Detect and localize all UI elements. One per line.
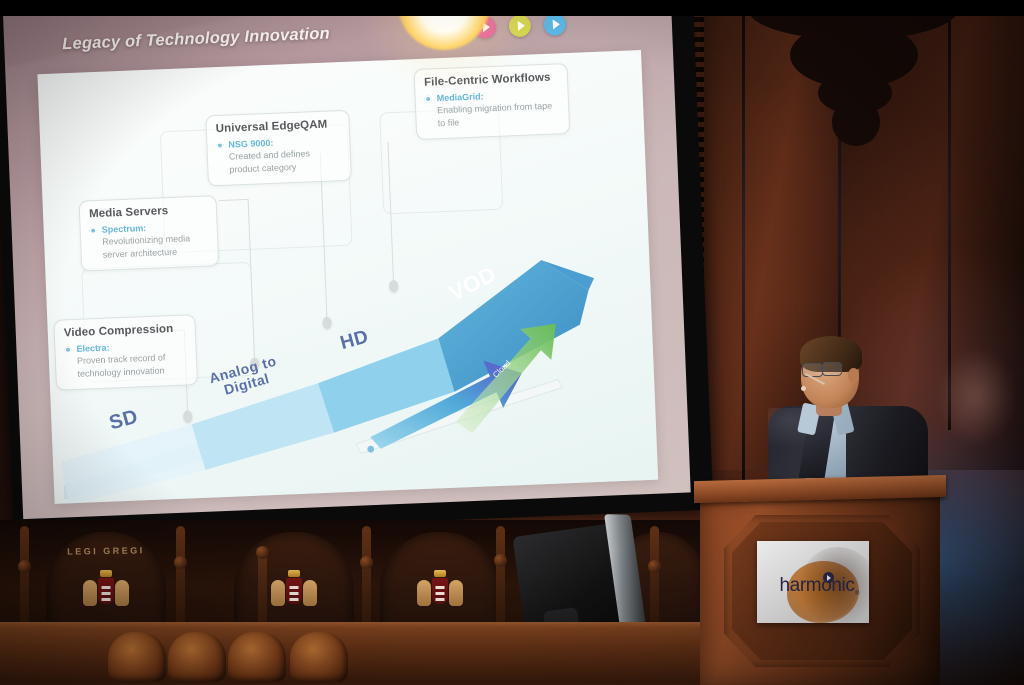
rail-carving-1	[108, 632, 166, 682]
callout-universal-edgeqam: Universal EdgeQAM NSG 9000: Created and …	[205, 110, 352, 187]
chair-knob-1	[18, 560, 31, 573]
blue-play-dot	[543, 13, 566, 36]
podium-body: harmonic ®	[700, 497, 940, 685]
callout-detail-file-centric-workflows: Enabling migration from tape to file	[437, 101, 552, 128]
coat-of-arms-icon	[83, 572, 129, 616]
callout-product-video-compression: Electra:	[76, 343, 109, 354]
callout-title-media-servers: Media Servers	[89, 204, 207, 221]
callout-detail-media-servers: Revolutionizing media server architectur…	[102, 234, 190, 260]
photo-scene: harmonic Legacy of Technology Innovation	[0, 0, 1024, 685]
callout-bullet-media-servers: Spectrum: Revolutionizing media server a…	[89, 220, 208, 262]
chair-knob-6	[648, 560, 661, 573]
coat-of-arms-icon	[271, 572, 317, 616]
presentation-slide: harmonic Legacy of Technology Innovation	[3, 0, 691, 519]
eyeglasses-bridge	[820, 367, 824, 369]
screen-surface: harmonic Legacy of Technology Innovation	[3, 0, 691, 519]
callout-video-compression: Video Compression Electra: Proven track …	[53, 314, 198, 391]
headset-microphone-tip	[801, 386, 806, 391]
bullet-dot-icon	[216, 142, 223, 149]
callout-bullet-universal-edgeqam: NSG 9000: Created and defines product ca…	[216, 134, 341, 176]
registered-mark: ®	[855, 591, 859, 597]
chair-knob-5	[494, 554, 507, 567]
chair-knob-2	[174, 556, 187, 569]
inset-arrow-graphic: Cloud	[343, 300, 599, 470]
ceiling-ornament-drop	[832, 98, 880, 146]
coat-of-arms-icon	[417, 572, 463, 616]
chair-motto: LEGI GREGI	[67, 545, 145, 556]
rail-carving-2	[168, 632, 226, 682]
slide-content-area: SD Analog to Digital HD VOD	[37, 50, 658, 504]
callout-product-media-servers: Spectrum:	[102, 223, 147, 235]
callout-product-universal-edgeqam: NSG 9000:	[228, 138, 273, 150]
inset-arrow-svg: Cloud	[343, 300, 599, 470]
projection-screen: harmonic Legacy of Technology Innovation	[0, 0, 713, 538]
callout-detail-universal-edgeqam: Created and defines product category	[229, 149, 310, 175]
slide-title: Legacy of Technology Innovation	[62, 24, 330, 54]
ear	[848, 368, 859, 383]
play-button-icon	[823, 572, 834, 583]
bullet-dot-icon	[90, 227, 97, 234]
callout-bullet-video-compression: Electra: Proven track record of technolo…	[64, 338, 187, 380]
podium-brand-sign: harmonic ®	[757, 541, 869, 623]
podium: harmonic ®	[694, 478, 952, 685]
eyeglasses-lens-right	[822, 362, 842, 376]
callout-media-servers: Media Servers Spectrum: Revolutionizing …	[79, 195, 220, 272]
callout-title-video-compression: Video Compression	[64, 323, 186, 340]
rail-carving-4	[290, 632, 348, 682]
panel-seam-1	[742, 0, 745, 500]
chair-knob-3	[256, 546, 269, 559]
carved-bench-rail	[0, 622, 710, 685]
sign-brand-text: harmonic	[765, 575, 869, 597]
callout-title-universal-edgeqam: Universal EdgeQAM	[216, 118, 340, 135]
top-dark-band	[0, 0, 1024, 16]
speaker-person	[760, 336, 935, 486]
callout-detail-video-compression: Proven track record of technology innova…	[77, 353, 166, 379]
bullet-dot-icon	[64, 346, 71, 353]
rail-carving-3	[228, 632, 286, 682]
chair-knob-4	[360, 556, 373, 569]
